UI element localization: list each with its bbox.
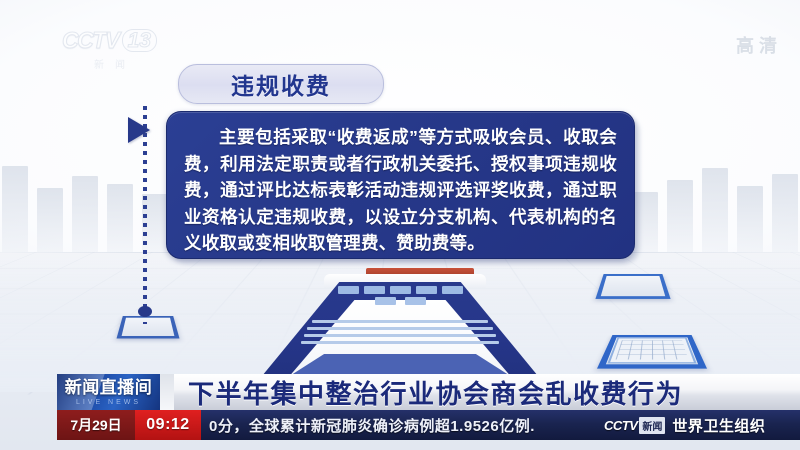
ticker-date: 7月29日 bbox=[57, 410, 135, 440]
ticker-scrolling-text: 0分，全球累计新冠肺炎确诊病例超1.9526亿例. bbox=[201, 410, 604, 440]
hd-watermark: 高清 bbox=[736, 32, 782, 58]
callout-body-text: 主要包括采取“收费返成”等方式吸收会员、收取会费，利用法定职责或者行政机关委托、… bbox=[184, 124, 617, 257]
cctv-news-chip: CCTV 新闻 bbox=[604, 417, 665, 434]
cctv-chip-wordmark: CCTV bbox=[604, 418, 637, 433]
news-ticker-bar: 7月29日 09:12 0分，全球累计新冠肺炎确诊病例超1.9526亿例. CC… bbox=[57, 410, 800, 440]
cctv-channel-number: 13 bbox=[122, 29, 157, 52]
document-illustration bbox=[262, 268, 538, 376]
lower-third-banner: 新闻直播间 LIVE NEWS 下半年集中整治行业协会商会乱收费行为 bbox=[57, 374, 800, 410]
cctv-chip-news-label: 新闻 bbox=[639, 417, 665, 434]
program-name-cn: 新闻直播间 bbox=[65, 379, 153, 396]
cctv-channel-logo: CCTV 13 新闻 bbox=[62, 27, 157, 71]
document-text-lines bbox=[262, 320, 538, 348]
dotted-connector-endpoint bbox=[138, 306, 152, 317]
document-tab-row-2 bbox=[262, 297, 538, 311]
lower-third-divider bbox=[160, 374, 174, 410]
iso-plate-left bbox=[116, 316, 179, 339]
callout-pointer-icon bbox=[128, 117, 150, 143]
iso-plate-keyboard bbox=[597, 335, 707, 369]
program-logo-block: 新闻直播间 LIVE NEWS bbox=[57, 374, 160, 410]
callout-panel: 主要包括采取“收费返成”等方式吸收会员、收取会费，利用法定职责或者行政机关委托、… bbox=[166, 111, 635, 259]
topic-badge-label: 违规收费 bbox=[231, 67, 331, 101]
ticker-clock: 09:12 bbox=[135, 410, 201, 440]
cctv-logo-subtitle: 新闻 bbox=[83, 56, 136, 71]
headline-bar: 下半年集中整治行业协会商会乱收费行为 bbox=[174, 374, 800, 410]
ticker-source-block: CCTV 新闻 世界卫生组织 bbox=[604, 410, 800, 440]
cctv-wordmark: CCTV bbox=[62, 27, 119, 54]
headline-text: 下半年集中整治行业协会商会乱收费行为 bbox=[188, 374, 683, 411]
iso-plate-top-right bbox=[595, 274, 670, 299]
ticker-source-organization: 世界卫生组织 bbox=[672, 415, 765, 436]
topic-badge: 违规收费 bbox=[178, 64, 384, 104]
broadcast-screen: CCTV 13 新闻 高清 违规收费 主要包括采取“收费返成”等 bbox=[0, 0, 800, 450]
program-name-en: LIVE NEWS bbox=[76, 399, 141, 406]
